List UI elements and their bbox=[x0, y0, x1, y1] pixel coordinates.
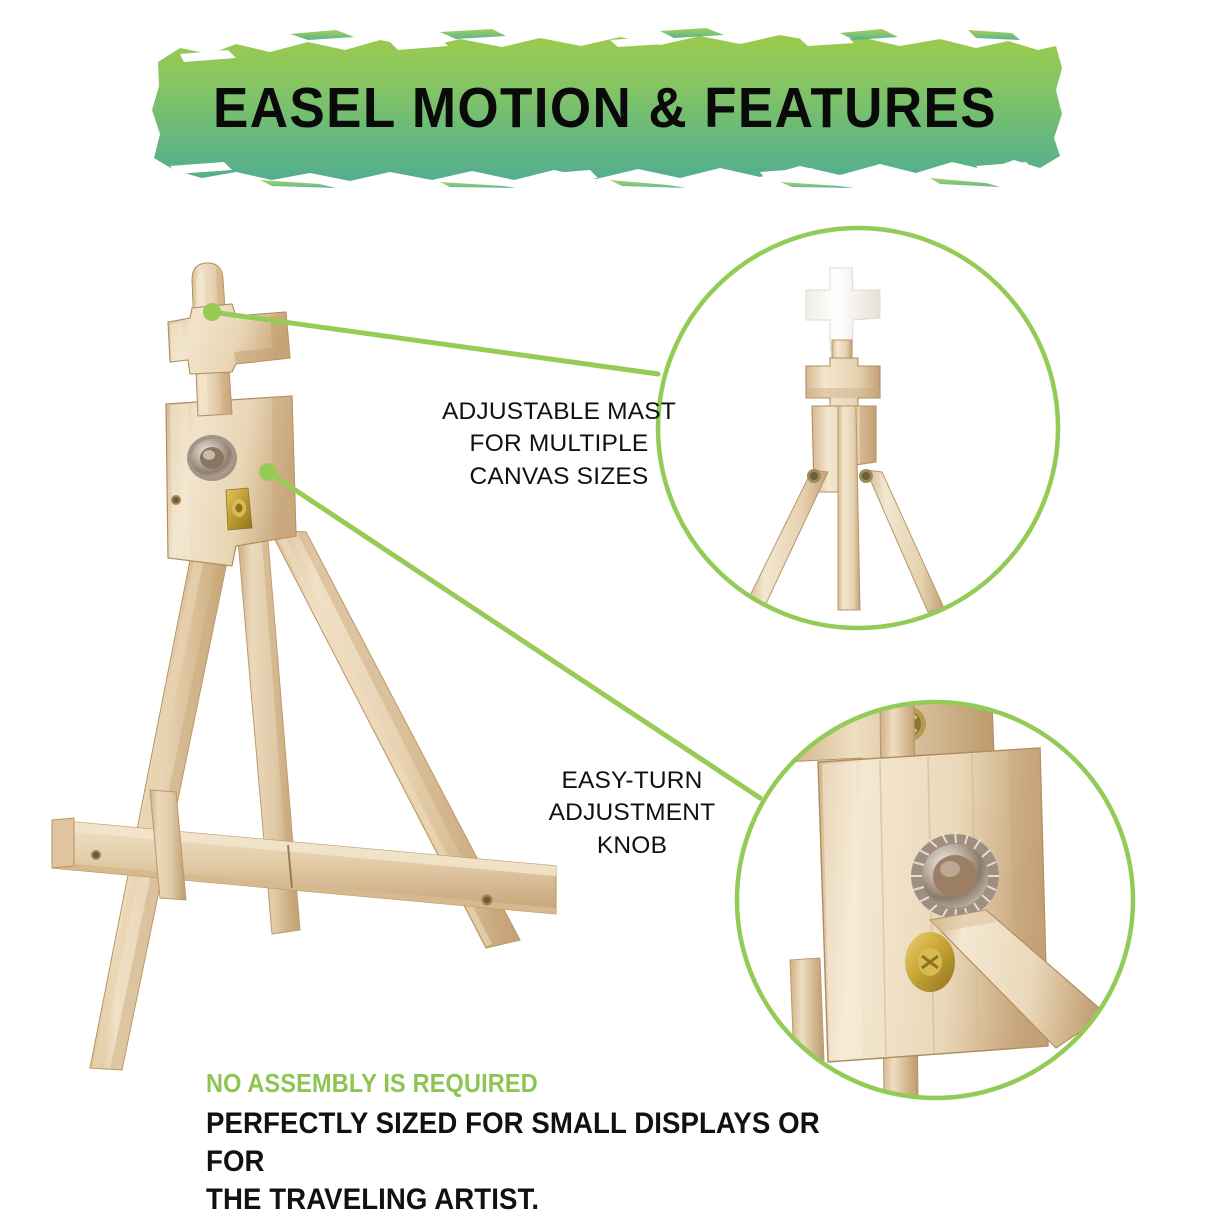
callout-circle-outline bbox=[737, 702, 1133, 1098]
leader-anchor-dot bbox=[203, 303, 221, 321]
footer-body: PERFECTLY SIZED FOR SMALL DISPLAYS OR FO… bbox=[206, 1105, 850, 1214]
knob-rim bbox=[187, 435, 237, 481]
knob-knurl-ring bbox=[911, 834, 999, 918]
brass-washer bbox=[905, 932, 955, 992]
easel-left-leg bbox=[90, 528, 234, 1070]
adjustment-knob bbox=[191, 439, 233, 477]
leader-line-easy-turn-knob bbox=[259, 463, 760, 798]
callout-label-adjustable-mast: ADJUSTABLE MAST FOR MULTIPLE CANVAS SIZE… bbox=[424, 396, 694, 493]
easel-rear-leg bbox=[238, 540, 300, 934]
footer-headline: NO ASSEMBLY IS REQUIRED bbox=[206, 1070, 850, 1099]
phillips-screw bbox=[888, 706, 926, 742]
leader-line-adjustable-mast bbox=[203, 303, 658, 374]
callout-label-easy-turn-knob: EASY-TURN ADJUSTMENT KNOB bbox=[512, 765, 752, 862]
page-title: EASEL MOTION & FEATURES bbox=[173, 28, 1038, 188]
easel-knob-block bbox=[166, 396, 296, 566]
leader-anchor-dot bbox=[259, 463, 277, 481]
easel-top-crossbar bbox=[168, 304, 290, 374]
callout-bottom-photo bbox=[737, 688, 1133, 1098]
callout-top-photo bbox=[658, 228, 1058, 628]
easel-left-support bbox=[150, 790, 186, 900]
infographic-page: EASEL MOTION & FEATURES bbox=[0, 0, 1214, 1214]
easel-mast-post bbox=[192, 263, 232, 416]
easel-right-leg bbox=[270, 530, 520, 948]
knob-knurls bbox=[911, 832, 999, 920]
header-banner: EASEL MOTION & FEATURES bbox=[140, 28, 1070, 188]
easel-shelf-tray bbox=[52, 818, 556, 914]
callout-circle-outline bbox=[658, 228, 1058, 628]
footer-copy: NO ASSEMBLY IS REQUIRED PERFECTLY SIZED … bbox=[206, 1070, 906, 1214]
